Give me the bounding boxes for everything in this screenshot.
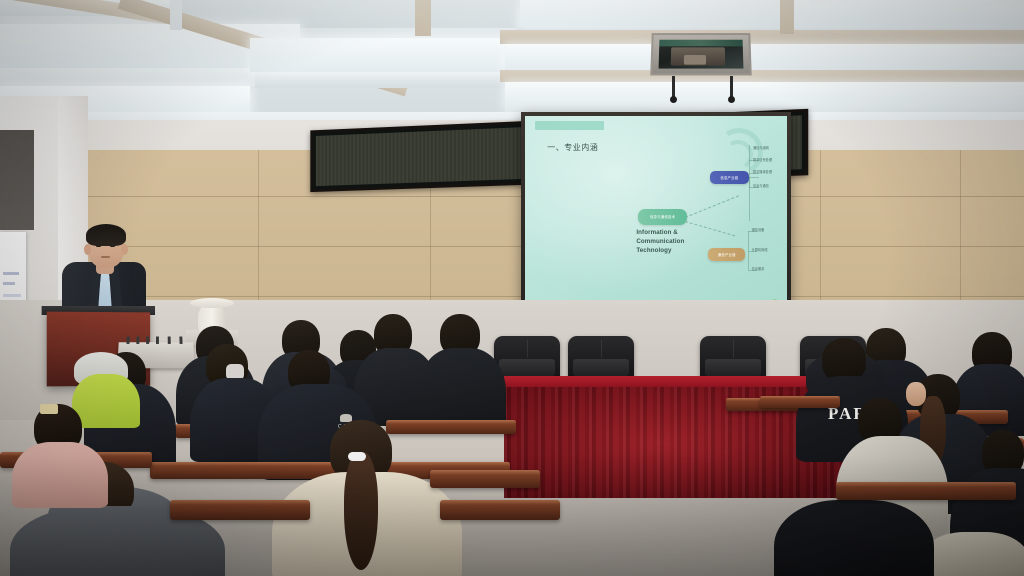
bench-seat[interactable] bbox=[836, 482, 1016, 500]
bench-seat[interactable] bbox=[386, 420, 516, 434]
hair-tie bbox=[348, 452, 366, 461]
slide-surface: 一、专业内涵 信息与通信技术 Information & Communicati… bbox=[525, 116, 787, 314]
head-table-chair-3 bbox=[700, 336, 766, 380]
bench-seat[interactable] bbox=[430, 470, 540, 488]
ponytail bbox=[344, 452, 378, 570]
mindmap-branch-label-1: 信息产业链 bbox=[720, 175, 738, 180]
eng-line-2: Communication bbox=[636, 238, 709, 247]
speaker-ear-left bbox=[84, 244, 91, 255]
mindmap-central-node: 信息与通信技术 bbox=[638, 209, 688, 225]
bench-seat[interactable] bbox=[170, 500, 310, 520]
speaker-hair bbox=[86, 224, 126, 246]
hair-clip bbox=[40, 404, 58, 414]
bench-seat[interactable] bbox=[440, 500, 560, 520]
mindmap-leaf-1-1: 通信与组网 bbox=[753, 145, 769, 150]
mindmap-leaf-2-1: 通信设备 bbox=[752, 227, 765, 232]
left-wall-shadow bbox=[0, 130, 34, 230]
slide-title: 一、专业内涵 bbox=[547, 142, 598, 153]
mindmap-leaf-2-2: 计算机网络 bbox=[752, 247, 768, 252]
projection-screen: 一、专业内涵 信息与通信技术 Information & Communicati… bbox=[521, 112, 791, 318]
eng-line-1: Information & bbox=[636, 229, 709, 238]
bench-seat[interactable] bbox=[760, 396, 840, 408]
mindmap-branch-node-1: 信息产业链 bbox=[710, 171, 749, 184]
mindmap-leaf-1-2: 数字信号处理 bbox=[753, 157, 772, 162]
mindmap-leaf-1-3: 数字媒体处理 bbox=[753, 169, 772, 174]
mindmap-branch-node-2: 通信产业链 bbox=[708, 248, 745, 261]
mindmap-central-label: 信息与通信技术 bbox=[650, 214, 675, 219]
mindmap-english-text: Information & Communication Technology bbox=[636, 229, 709, 256]
ceiling bbox=[0, 0, 1024, 132]
mindmap-leaf-2-3: 信息服务 bbox=[752, 266, 765, 271]
eng-line-3: Technology bbox=[636, 247, 709, 256]
mindmap-branch-label-2: 通信产业链 bbox=[718, 252, 736, 257]
head-table-chair-2 bbox=[568, 336, 634, 380]
speaker-ear-right bbox=[121, 244, 128, 255]
head-table-chair-1 bbox=[494, 336, 560, 380]
head-table-top bbox=[504, 376, 852, 387]
lecture-hall-scene: 一、专业内涵 信息与通信技术 Information & Communicati… bbox=[0, 0, 1024, 576]
slide-header-tag bbox=[535, 121, 603, 130]
mindmap-leaf-1-4: 信息与通信 bbox=[753, 183, 769, 188]
